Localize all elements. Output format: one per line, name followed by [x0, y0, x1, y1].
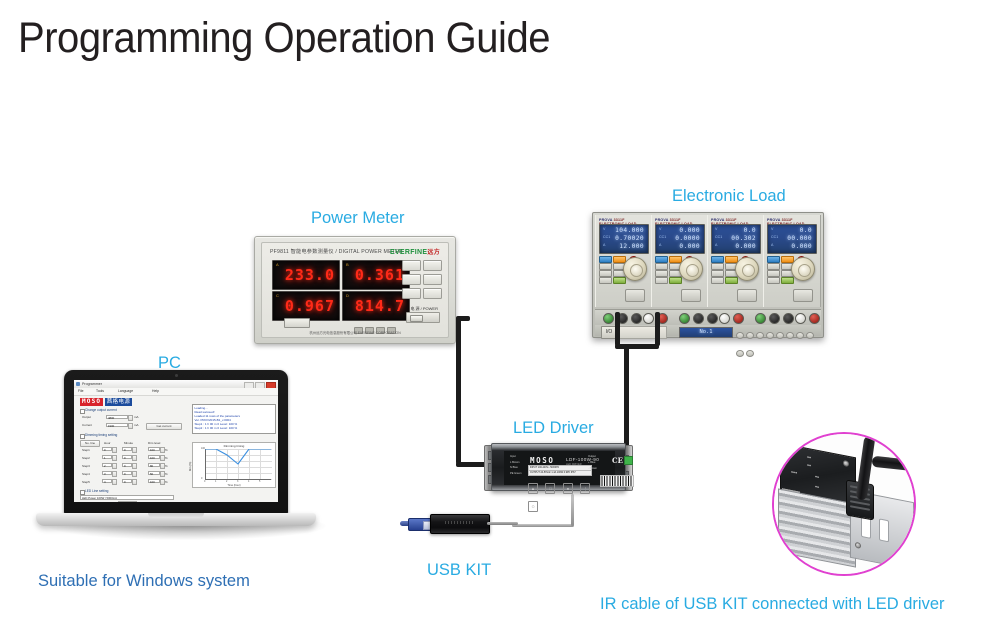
table-row-5-minute-spinner[interactable] — [132, 479, 137, 485]
unit-2-line-2: 0.0000 — [675, 235, 700, 242]
electronic-load-unit-1: PROVA 3311F ELECTRONIC LOAD V CC1 A 104.… — [595, 215, 653, 307]
terminal-sense-pos-3[interactable] — [795, 313, 806, 324]
power-meter-case: PF9811 智能电参数测量仪 / DIGITAL POWER METER EV… — [254, 236, 456, 344]
inset-case-text-2: ●● — [807, 463, 811, 468]
led-driver-housing: Input L Brown N Blue PE Green MOSO LDF-1… — [491, 443, 626, 491]
table-row-1-unit: % — [165, 448, 168, 452]
table-row-2-label: Step2 — [82, 456, 90, 460]
table-header-line[interactable]: No. line — [80, 440, 100, 447]
unit-3-key-6[interactable] — [725, 277, 738, 284]
terminal-sense-neg-3[interactable] — [783, 313, 794, 324]
moso-wordmark-cn: 茜格电源 — [105, 398, 133, 406]
led-driver-nameplate: Input L Brown N Blue PE Green MOSO LDF-1… — [504, 451, 615, 485]
unit-2-mode-button[interactable] — [655, 256, 668, 263]
electronic-load-controller-bay: I/O No.1 — [595, 325, 821, 336]
table-row-3-minute[interactable]: 0 — [122, 463, 132, 467]
unit-3-line-3: 0.000 — [735, 243, 756, 250]
unit-2-key-3[interactable] — [655, 270, 668, 277]
electronic-load-unit-3: PROVA 3311F ELECTRONIC LOAD V CC1 A 0.0 … — [707, 215, 765, 307]
power-meter-brand-logo: EVERFINE远方 — [390, 247, 440, 256]
unit-1-rotary-knob[interactable] — [623, 257, 647, 281]
power-meter-key-range[interactable] — [402, 260, 421, 271]
menu-tools[interactable]: Tools — [96, 389, 104, 393]
unit-4-tag-2: CC1 — [771, 235, 778, 239]
unit-4-lcd: V CC1 A 0.0 00.000 0.000 — [767, 224, 817, 254]
inset-screw-1 — [843, 460, 849, 467]
display-a-value: 233.0 — [273, 266, 335, 284]
table-row-2-hour[interactable]: 1 — [102, 455, 112, 459]
class-ii-icon: □ — [545, 483, 555, 494]
display-b-value: 0.361 — [343, 266, 405, 284]
laptop-trackpad-notch — [148, 513, 204, 518]
controller-key-1[interactable] — [736, 332, 744, 339]
table-row-1-minute-spinner[interactable] — [132, 447, 137, 453]
power-meter-key-a[interactable] — [423, 260, 442, 271]
power-meter-power-switch[interactable] — [406, 312, 440, 323]
display-c-value: 0.967 — [273, 297, 335, 315]
inset-case-text-5: ●● — [815, 484, 819, 489]
unit-1-mode-button[interactable] — [599, 256, 612, 263]
table-row-2-hour-spinner[interactable] — [112, 455, 117, 461]
unit-4-mode-button[interactable] — [767, 256, 780, 263]
power-meter-badge — [284, 318, 310, 328]
field-output-input[interactable]: 4800 — [106, 415, 128, 419]
unit-3-dpad[interactable] — [737, 289, 757, 302]
unit-4-rotary-knob[interactable] — [791, 257, 815, 281]
cable-load-bridge — [615, 344, 659, 349]
power-meter-display-c: C 0.967 — [272, 291, 340, 321]
power-meter-key-v[interactable] — [423, 274, 442, 285]
warning-triangle-icon: ▲ — [528, 483, 538, 494]
table-row-1-level[interactable]: 100 — [148, 447, 160, 451]
rohs-mark-icon — [624, 456, 633, 465]
led-driver-certification-icons: ▲ □ ● ⋮ ♻ — [528, 477, 598, 487]
inset-screw-2 — [855, 542, 861, 549]
cable-power-meter-vertical — [456, 318, 461, 464]
terminal-positive-3[interactable] — [809, 313, 820, 324]
unit-2-tag-2: CC1 — [659, 235, 666, 239]
unit-1-line-3: 12.000 — [619, 243, 644, 250]
power-meter-model: PF9811 智能电参数测量仪 / DIGITAL POWER METER — [270, 248, 403, 255]
table-row-5-hour-spinner[interactable] — [112, 479, 117, 485]
field-current-input[interactable]: 1900 — [106, 423, 128, 427]
unit-2-lcd: V CC1 A 0.000 0.0000 0.000 — [655, 224, 705, 254]
field-current-unit: mA — [134, 423, 139, 427]
input-label-pe: PE Green — [510, 472, 528, 475]
output-label: Output — [588, 455, 612, 458]
led-driver-device: Input L Brown N Blue PE Green MOSO LDF-1… — [484, 443, 633, 491]
table-row-5-hour[interactable]: 4 — [102, 479, 112, 483]
unit-1-line-2: 0.70020 — [615, 235, 644, 242]
table-row-5-label: Step5 — [82, 480, 90, 484]
unit-3-tag-3: A — [715, 243, 717, 247]
chart-series-line — [205, 449, 271, 479]
power-meter-display-a: A 233.0 — [272, 260, 340, 290]
field-output-spinner[interactable] — [128, 415, 133, 421]
chart-title: Dimming timing — [193, 444, 275, 448]
power-meter-device: PF9811 智能电参数测量仪 / DIGITAL POWER METER EV… — [254, 236, 456, 344]
table-row-2-minute[interactable]: 0 — [122, 455, 132, 459]
table-row-3-label: Step3 — [82, 464, 90, 468]
table-row-2-minute-spinner[interactable] — [132, 455, 137, 461]
controller-key-4[interactable] — [766, 332, 774, 339]
terminal-sense-neg-2[interactable] — [707, 313, 718, 324]
laptop-lid: Programmer File Tools Language Help — [64, 370, 288, 515]
laptop-screen: Programmer File Tools Language Help — [74, 380, 278, 502]
table-row-5-level[interactable]: 100 — [148, 479, 160, 483]
chart-y-label: Dim (%) — [189, 462, 192, 471]
chart-x-label: Time (hour) — [193, 484, 275, 487]
laptop-computer: Programmer File Tools Language Help — [36, 370, 316, 535]
table-row-4-minute[interactable]: 0 — [122, 471, 132, 475]
field-current-spinner[interactable] — [128, 423, 133, 429]
label-ir-note: IR cable of USB KIT connected with LED d… — [600, 595, 945, 614]
power-meter-brand-cn: 远方 — [427, 250, 440, 256]
led-driver-brand: MOSO — [530, 456, 554, 465]
unit-1-lcd: V CC1 A 104.000 0.70020 12.000 — [599, 224, 649, 254]
programmer-application: Programmer File Tools Language Help — [74, 380, 278, 502]
chart-ytick-0: 0 — [201, 477, 202, 480]
power-meter-brandbar: PF9811 智能电参数测量仪 / DIGITAL POWER METER EV… — [270, 247, 442, 257]
unit-2-key-1[interactable] — [655, 263, 668, 270]
led-driver-output-spec: OUTPUT 24-56Vdc 1.4A 100W 0.9PF IP67 — [528, 470, 592, 476]
output-label-neg: - Brown — [588, 467, 612, 470]
controller-key-8[interactable] — [806, 332, 814, 339]
controller-key-7[interactable] — [796, 332, 804, 339]
usb-kit-body — [430, 514, 490, 534]
controller-keypad[interactable] — [735, 326, 823, 337]
dimming-timing-chart: Dimming timing — [192, 442, 276, 488]
power-meter-function-buttons[interactable] — [354, 321, 400, 329]
inset-bracket-slot-2 — [879, 518, 889, 542]
table-header-level: Dim level — [148, 441, 160, 445]
inset-ir-cable-horizontal — [872, 456, 916, 472]
log-panel[interactable]: Loading... Read succeed! Loaded 11 rows … — [192, 404, 276, 434]
controller-key-6[interactable] — [786, 332, 794, 339]
power-meter-faceplate: PF9811 智能电参数测量仪 / DIGITAL POWER METER EV… — [261, 242, 449, 338]
inset-case-text-3: ●●● — [791, 470, 797, 475]
terminal-sense-neg-1[interactable] — [631, 313, 642, 324]
unit-4-key-3[interactable] — [767, 270, 780, 277]
display-d-value: 814.7 — [343, 297, 405, 315]
led-select[interactable]: LED Power 100W / 5000mA — [80, 495, 174, 500]
menu-file[interactable]: File — [78, 389, 83, 393]
unit-1-tag-1: V — [603, 227, 605, 231]
group-led-title: LED Line setting — [85, 489, 108, 493]
unit-2-control-panel[interactable] — [655, 254, 705, 304]
power-meter-brand: EVERFINE — [390, 249, 427, 256]
output-spec-text: OUTPUT 24-56Vdc 1.4A 100W 0.9PF IP67 — [529, 471, 591, 475]
unit-1-key-6[interactable] — [613, 277, 626, 284]
cable-usb-kit-to-driver-riser — [571, 494, 574, 526]
input-label-n: N Blue — [510, 466, 528, 469]
temperature-icon: ⋮ — [580, 483, 590, 494]
unit-4-control-panel[interactable] — [767, 254, 817, 304]
terminal-sense-pos-1[interactable] — [643, 313, 654, 324]
unit-4-tag-3: A — [771, 243, 773, 247]
led-driver-input-labels: Input L Brown N Blue PE Green — [510, 455, 528, 477]
table-row-5-unit: % — [165, 480, 168, 484]
recycle-icon: ♻ — [528, 501, 538, 512]
unit-2-tag-1: V — [659, 227, 661, 231]
table-row-1-label: Step1 — [82, 448, 90, 452]
controller-key-2[interactable] — [746, 332, 754, 339]
power-meter-footer: 杭州远方光电信息股份有限公司 EVERFINE CORPORATION — [262, 330, 448, 335]
inset-case-text-1: ●● — [807, 455, 811, 460]
field-current-label: Current — [82, 423, 92, 427]
webcam-icon — [175, 374, 178, 377]
cable-load-vertical-right — [655, 312, 660, 346]
output-label-pos: + Blue — [588, 461, 612, 464]
table-row-4-hour-spinner[interactable] — [112, 471, 117, 477]
terminal-ground-1[interactable] — [603, 313, 614, 324]
inset-photo-ir-connection: ●● ●● ●●● ●● ●● — [772, 432, 916, 576]
table-row-2-level[interactable]: 100 — [148, 455, 160, 459]
unit-3-tag-2: CC1 — [715, 235, 722, 239]
unit-3-rotary-knob[interactable] — [735, 257, 759, 281]
table-row-4-level[interactable]: 50 — [148, 471, 160, 475]
led-driver-barcode — [600, 475, 634, 487]
unit-2-key-6[interactable] — [669, 277, 682, 284]
power-meter-display-b: B 0.361 — [342, 260, 410, 290]
usb-kit-ir-cable — [487, 522, 518, 525]
chart-xtick-4: 4 — [248, 480, 249, 483]
table-row-4-hour[interactable]: 3 — [102, 471, 112, 475]
unit-2-rotary-knob[interactable] — [679, 257, 703, 281]
unit-4-line-1: 0.0 — [800, 227, 812, 234]
table-header-hour: Hour — [104, 441, 111, 445]
group-power-title: Change output current — [85, 408, 117, 412]
chart-xtick-5: 5 — [259, 480, 260, 483]
table-row-1-hour[interactable]: 0 — [102, 447, 112, 451]
unit-3-tag-1: V — [715, 227, 717, 231]
unit-3-lcd: V CC1 A 0.0 00.302 0.000 — [711, 224, 761, 254]
table-row-5-minute[interactable]: 0 — [122, 479, 132, 483]
electronic-load-chassis: PROVA 3311F ELECTRONIC LOAD V CC1 A 104.… — [592, 212, 824, 338]
unit-4-key-6[interactable] — [781, 277, 794, 284]
unit-3-key-1[interactable] — [711, 263, 724, 270]
label-pc: PC — [158, 354, 181, 373]
get-current-button[interactable]: Get current — [146, 423, 182, 431]
unit-1-dpad[interactable] — [625, 289, 645, 302]
unit-2-key-5[interactable] — [655, 277, 668, 284]
table-header-minute: Minute — [124, 441, 133, 445]
terminal-ground-3[interactable] — [755, 313, 766, 324]
unit-3-key-5[interactable] — [711, 277, 724, 284]
unit-4-dpad[interactable] — [793, 289, 813, 302]
moso-logo: MOSO茜格电源 — [80, 398, 132, 406]
label-led-driver: LED Driver — [513, 419, 594, 438]
log-line-6: Step2 : 1 h 00 m 0 Level: 100 % — [195, 426, 238, 430]
power-meter-key-reset[interactable] — [402, 274, 421, 285]
menu-help[interactable]: Help — [152, 389, 159, 393]
table-row-3-hour[interactable]: 2 — [102, 463, 112, 467]
terminal-negative-3[interactable] — [769, 313, 780, 324]
table-row-4-unit: % — [165, 472, 168, 476]
power-meter-display-d: D 814.7 — [342, 291, 410, 321]
page-title: Programming Operation Guide — [18, 12, 550, 64]
unit-3-mode-button[interactable] — [711, 256, 724, 263]
inset-photo-content: ●● ●● ●●● ●● ●● — [774, 434, 914, 574]
electronic-load-unit-4: PROVA 3311F ELECTRONIC LOAD V CC1 A 0.0 … — [763, 215, 821, 307]
controller-key-3[interactable] — [756, 332, 764, 339]
unit-1-tag-2: CC1 — [603, 235, 610, 239]
unit-1-key-1[interactable] — [599, 263, 612, 270]
field-output-unit: mA — [134, 415, 139, 419]
terminal-positive-2[interactable] — [733, 313, 744, 324]
controller-key-10[interactable] — [746, 350, 754, 357]
usb-kit-device — [400, 510, 518, 538]
label-power-meter: Power Meter — [311, 209, 405, 228]
power-meter-key-extra-1[interactable] — [402, 288, 421, 299]
terminal-ground-2[interactable] — [679, 313, 690, 324]
slide-canvas: Programming Operation Guide PF9811 智能电参数… — [0, 0, 1002, 640]
table-row-4-label: Step4 — [82, 472, 90, 476]
app-icon — [76, 382, 80, 386]
moso-wordmark: MOSO — [80, 398, 103, 406]
unit-1-line-1: 104.000 — [615, 227, 644, 234]
unit-4-key-5[interactable] — [767, 277, 780, 284]
electronic-load-rack: PROVA 3311F ELECTRONIC LOAD V CC1 A 104.… — [592, 212, 824, 338]
field-output-label: Output — [82, 415, 91, 419]
menu-language[interactable]: Language — [118, 389, 133, 393]
power-meter-model-code: PF9811 — [270, 249, 289, 255]
input-label: Input — [510, 455, 528, 458]
chart-xtick-2: 2 — [226, 480, 227, 483]
group-dimming-title: Dimming timing setting — [85, 433, 117, 437]
controller-key-5[interactable] — [776, 332, 784, 339]
table-row-2-unit: % — [165, 456, 168, 460]
table-row-3-minute-spinner[interactable] — [132, 463, 137, 469]
unit-1-key-3[interactable] — [599, 270, 612, 277]
label-electronic-load: Electronic Load — [672, 187, 786, 206]
unit-3-control-panel[interactable] — [711, 254, 761, 304]
table-row-3-hour-spinner[interactable] — [112, 463, 117, 469]
inset-case-text-4: ●● — [815, 474, 819, 479]
ip-rating-icon: ● — [563, 483, 573, 494]
unit-2-dpad[interactable] — [681, 289, 701, 302]
table-row-3-unit: % — [165, 464, 168, 468]
label-usb-kit: USB KIT — [427, 561, 491, 580]
unit-4-key-1[interactable] — [767, 263, 780, 270]
led-driver-output-labels: Output + Blue - Brown — [588, 455, 612, 473]
app-title: Programmer — [82, 382, 102, 386]
power-meter-model-sub: 智能电参数测量仪 / DIGITAL POWER METER — [291, 249, 403, 255]
table-row-1-hour-spinner[interactable] — [112, 447, 117, 453]
cable-load-vertical-left — [615, 312, 620, 346]
app-menu-bar[interactable]: File Tools Language Help — [74, 388, 278, 396]
unit-4-tag-1: V — [771, 227, 773, 231]
label-windows-note: Suitable for Windows system — [38, 572, 250, 591]
unit-4-line-2: 00.000 — [787, 235, 812, 242]
cable-power-meter-elbow — [456, 316, 470, 321]
table-row-1-minute[interactable]: 0 — [122, 447, 132, 451]
unit-1-tag-3: A — [603, 243, 605, 247]
ce-mark-icon: CE — [612, 456, 623, 465]
controller-key-9[interactable] — [736, 350, 744, 357]
terminal-negative-2[interactable] — [693, 313, 704, 324]
chart-ytick-100: 100 — [201, 447, 205, 450]
input-label-l: L Brown — [510, 461, 528, 464]
unit-2-tag-3: A — [659, 243, 661, 247]
table-row-3-level[interactable]: 80 — [148, 463, 160, 467]
led-row-1-value[interactable]: 700 — [118, 501, 132, 502]
terminal-sense-pos-2[interactable] — [719, 313, 730, 324]
electronic-load-unit-2: PROVA 3311F ELECTRONIC LOAD V CC1 A 0.00… — [651, 215, 709, 307]
unit-3-line-1: 0.0 — [744, 227, 756, 234]
unit-4-line-3: 0.000 — [791, 243, 812, 250]
chart-xtick-1: 1 — [215, 480, 216, 483]
unit-2-line-3: 0.000 — [679, 243, 700, 250]
unit-1-control-panel[interactable] — [599, 254, 649, 304]
unit-3-line-2: 00.302 — [731, 235, 756, 242]
chart-xtick-0: 0 — [204, 480, 205, 483]
power-meter-key-extra-2[interactable] — [423, 288, 442, 299]
controller-display: No.1 — [679, 327, 733, 338]
table-row-4-minute-spinner[interactable] — [132, 471, 137, 477]
unit-2-line-1: 0.000 — [679, 227, 700, 234]
unit-1-key-5[interactable] — [599, 277, 612, 284]
unit-3-key-3[interactable] — [711, 270, 724, 277]
laptop-base — [36, 513, 316, 526]
chart-xtick-3: 3 — [237, 480, 238, 483]
cable-usb-kit-to-driver — [512, 524, 574, 527]
